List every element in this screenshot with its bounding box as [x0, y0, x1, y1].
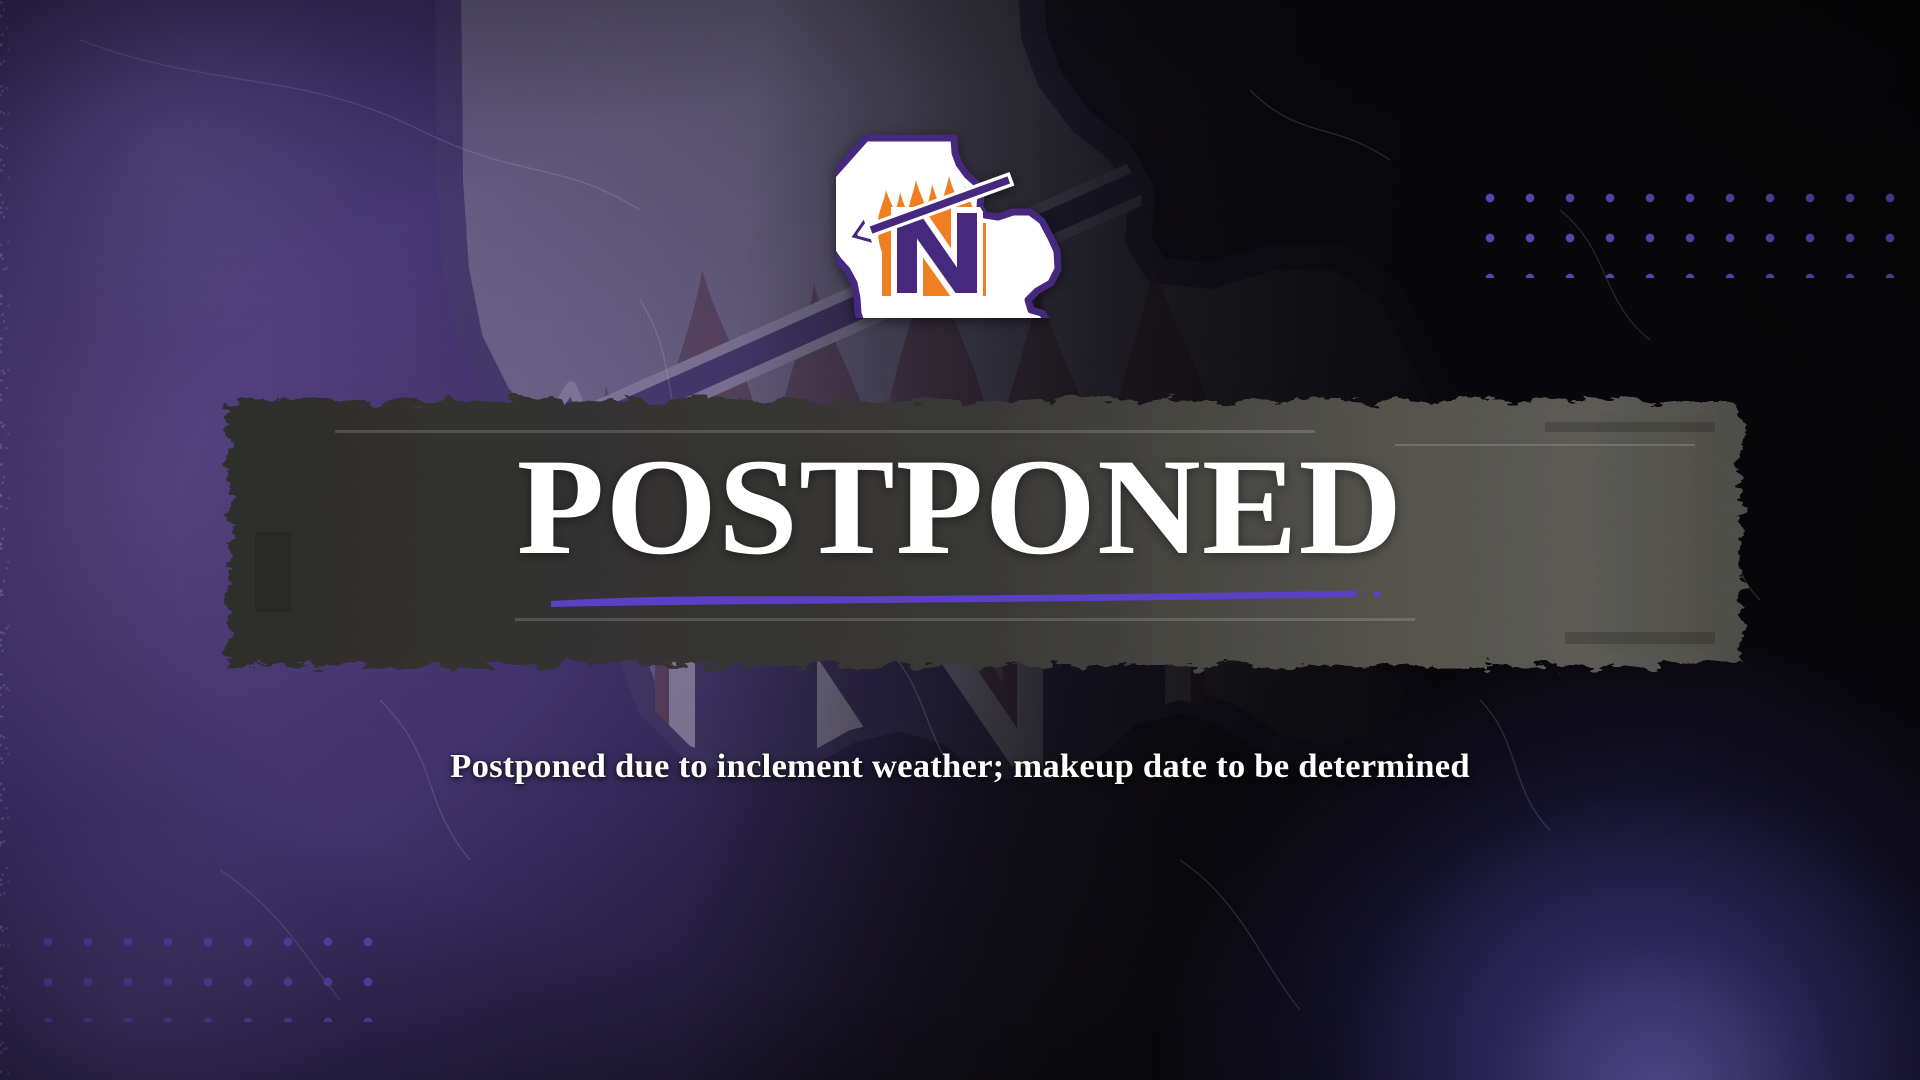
northwestern-state-demons-logo	[836, 128, 1064, 318]
announcement-graphic: POSTPONED Postponed due to inclement wea…	[0, 0, 1920, 1080]
dot-grid-top-right	[1470, 178, 1900, 278]
status-detail-text: Postponed due to inclement weather; make…	[0, 748, 1920, 786]
dot-grid-bottom-left	[28, 922, 378, 1022]
page-title: POSTPONED	[0, 438, 1920, 576]
purple-brush-underline	[545, 586, 1385, 612]
